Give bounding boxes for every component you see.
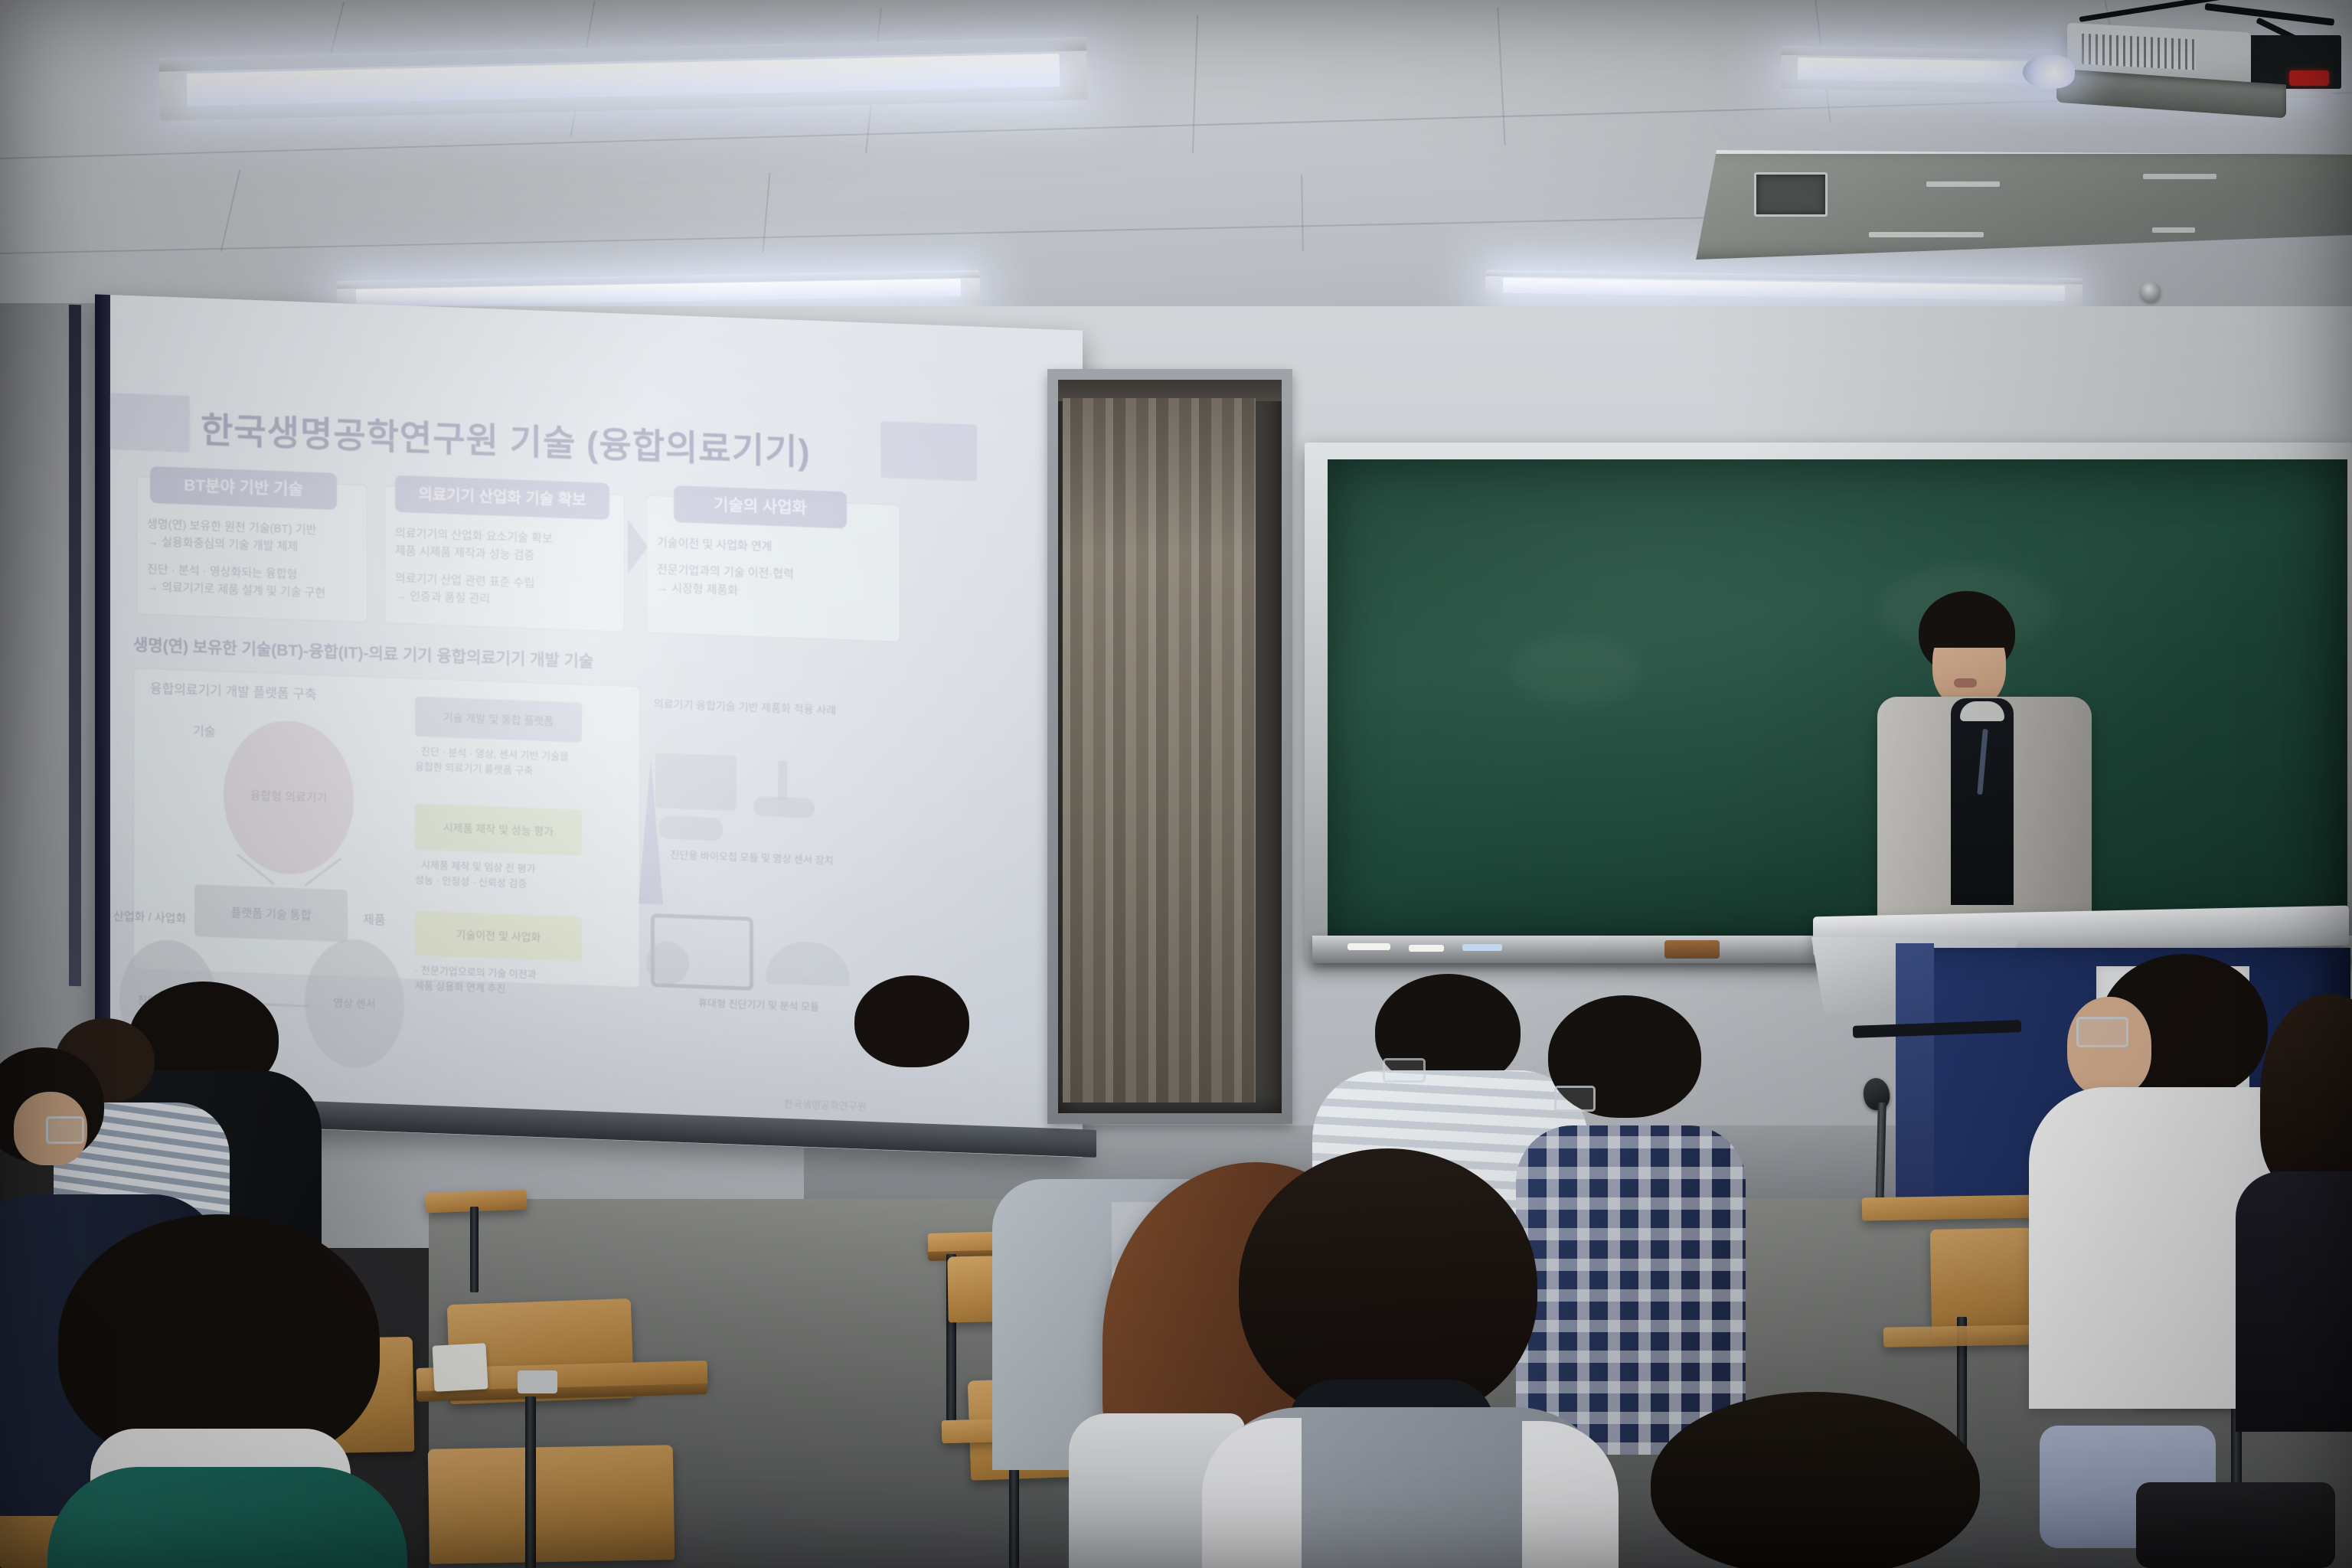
glasses-icon [1554, 1086, 1596, 1112]
presenter-mouth [1954, 678, 1977, 688]
slide-column-bullets-2: 의료기기의 산업화 요소기술 확보 제품 시제품 제작과 성능 검증 의료기기 … [395, 524, 617, 613]
audience-hair [854, 975, 969, 1067]
slide-right-box-2: 시제품 제작 및 성능 평가 [415, 804, 582, 856]
chair-back [428, 1445, 675, 1564]
desk-leg [470, 1207, 479, 1292]
sprinkler-head [2141, 282, 2161, 302]
audience-torso [47, 1467, 407, 1568]
slide-diagram-edge-label: 제품 [363, 909, 385, 928]
slide-right-box-1-bullets: · 진단 · 분석 · 영상, 센서 기반 기술을 융합한 의료기기 플랫폼 구… [415, 744, 591, 782]
slide-right-box-3-bullets: · 전문기업으로의 기술 이전과 제품 상용화 연계 추진 [415, 963, 591, 1001]
slide-right-box-2-bullets: · 시제품 제작 및 임상 전 평가 성능 · 안정성 · 신뢰성 검증 [415, 857, 591, 895]
slide-accent-band-left [110, 393, 190, 452]
slide-header-pill-3: 기술의 사업화 [674, 485, 847, 528]
bag [2136, 1482, 2335, 1568]
slide-photo-caption-2: 휴대형 진단기기 및 분석 모듈 [655, 993, 862, 1015]
slide-header-pill-1: BT분야 기반 기술 [150, 466, 337, 510]
curtain [1063, 398, 1256, 1102]
glasses-icon [46, 1116, 84, 1144]
slide-photo-chip-detail [658, 815, 723, 841]
projector-lens [2023, 55, 2075, 89]
glasses-icon [2076, 1017, 2128, 1047]
slide-photo-heading: 의료기기 융합기술 기반 제품화 적용 사례 [634, 695, 856, 720]
slide-diagram-edge-label: 기술 [193, 720, 215, 740]
audience-torso [2236, 1171, 2352, 1432]
slide-diagram-node-center: 플랫폼 기술 통합 [194, 884, 348, 942]
slide-photo-probe-base [753, 796, 815, 818]
slide-column-bullets-3: 기술이전 및 사업화 연계 전문기업과의 기술 이전·협력 → 시장형 제품화 [657, 534, 887, 605]
item-on-desk [518, 1370, 557, 1393]
projector-indicator-light [2289, 70, 2329, 86]
paper-on-desk [432, 1343, 488, 1392]
slide-column-bullets-1: 생명(연) 보유한 원천 기술(BT) 기반 → 실용화중심의 기술 개발 체제… [147, 515, 363, 603]
slide-title: 한국생명공학연구원 기술 (융합의료기기) [201, 402, 811, 475]
screen-mount-pole [69, 305, 81, 987]
slide-photo-caption-1: 진단용 바이오칩 모듈 및 영상 센서 장치 [637, 845, 867, 868]
slide-accent-band-right [880, 421, 977, 482]
glasses-icon [1383, 1058, 1426, 1083]
desk [1883, 1325, 2037, 1347]
slide-header-pill-2: 의료기기 산업화 기술 확보 [395, 475, 609, 520]
slide-diagram-edge-label: 산업화 / 사업화 [113, 907, 186, 926]
audience-hair [1651, 1392, 1980, 1568]
audience-torso [1516, 1125, 1746, 1455]
slide-section-header: 생명(연) 보유한 기술(BT)-융합(IT)-의료 기기 융합의료기기 개발 … [133, 632, 593, 672]
desk-leg [525, 1396, 536, 1568]
slide-photo-dome-sensor-unit [766, 940, 850, 986]
slide-photo-bio-chip-module [655, 753, 737, 811]
slide-arrow-icon [628, 519, 648, 575]
chalkboard [1328, 459, 2347, 940]
slide-right-box-3: 기술이전 및 사업화 [415, 911, 582, 962]
slide-right-box-1: 기술 개발 및 통합 플랫폼 [415, 697, 582, 743]
classroom-photo: 한국생명공학연구원 기술 (융합의료기기) BT분야 기반 기술 의료기기 산업… [0, 0, 2352, 1568]
slide-photo-probe-stem [778, 760, 787, 800]
screen-left-edge [95, 294, 110, 1122]
presenter-collar [1960, 701, 2004, 721]
presenter-hair-fringe [1922, 605, 2014, 648]
window-recess [1058, 380, 1282, 1113]
slide-footer: 한국생명공학연구원 [784, 1096, 867, 1113]
